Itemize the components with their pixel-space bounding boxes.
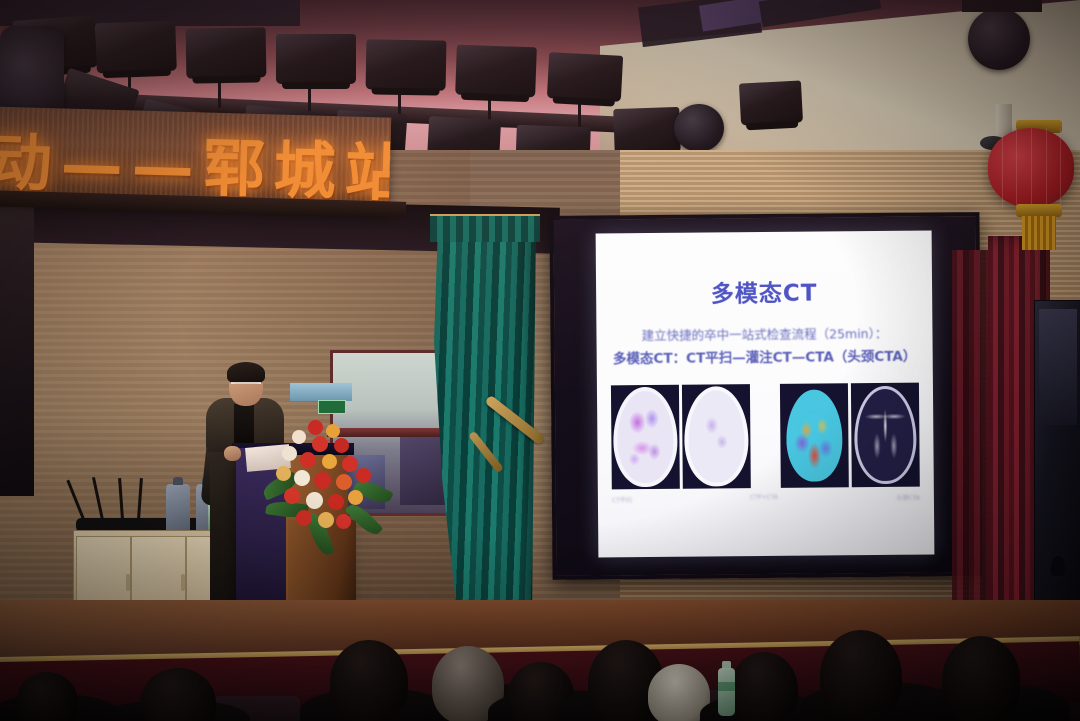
round-ceiling-speaker [968, 8, 1030, 70]
scan-group-right [780, 383, 920, 488]
wall-panel [290, 383, 352, 401]
presenter-shirt [234, 404, 254, 444]
slide-body-line-1: 建立快捷的卒中一站式检查流程（25min）： [606, 323, 922, 345]
moving-head-lens [674, 104, 724, 152]
cabinet-handle [181, 574, 185, 591]
speaker-grille [1039, 309, 1077, 425]
scan-caption-3: 头颈CTA [896, 493, 920, 502]
par-can-stage-light [366, 39, 447, 90]
presenter-hair [227, 362, 265, 384]
green-curtain-header [430, 214, 540, 242]
slide-scan-row [611, 383, 920, 492]
audience-head [820, 630, 902, 721]
presenter-hand [224, 446, 241, 461]
par-can-stage-light [276, 34, 356, 84]
glasses-icon [231, 382, 261, 390]
audience-head [942, 636, 1020, 721]
par-can-stage-light [95, 21, 177, 74]
brain-scan-image [780, 383, 849, 488]
brain-scan-image [851, 383, 920, 488]
lantern-tassel [1022, 216, 1056, 250]
scan-group-left [611, 384, 751, 489]
audience-head [330, 640, 408, 721]
conference-hall-photo: 动——郓城站 多模态CT 建立快捷的卒中一站式检查流程（25min）： 多模态C… [0, 0, 1080, 721]
brain-scan-image [682, 384, 751, 489]
left-wall-column [0, 196, 34, 496]
projection-screen: 多模态CT 建立快捷的卒中一站式检查流程（25min）： 多模态CT：CT平扫—… [596, 231, 935, 558]
scan-caption-2: CTP+CTA [750, 494, 778, 503]
chinese-red-lantern [988, 128, 1074, 208]
water-bottle [718, 668, 735, 716]
par-can-stage-light [547, 52, 623, 102]
speaker-mount-bracket [962, 0, 1042, 12]
slide-title: 多模态CT [596, 273, 932, 310]
thermos-flask [166, 484, 190, 534]
par-can-stage-light [455, 45, 537, 98]
par-can-stage-light [739, 80, 803, 125]
tower-loudspeaker [1034, 300, 1080, 632]
moving-head-light [613, 107, 681, 155]
cabinet-handle [126, 574, 130, 591]
scan-caption-1: CT平扫 [612, 495, 632, 504]
flower-arrangement [268, 418, 390, 548]
speaker-cone [1051, 556, 1065, 576]
brain-scan-image [611, 385, 680, 490]
slide-body-line-2: 多模态CT：CT平扫—灌注CT—CTA（头颈CTA） [607, 345, 923, 368]
slide-scan-captions: CT平扫 CTP+CTA 头颈CTA [612, 493, 920, 505]
audience-head [730, 652, 798, 721]
par-can-stage-light [186, 27, 267, 78]
red-curtain-back [952, 250, 992, 640]
exit-sign [318, 400, 346, 414]
